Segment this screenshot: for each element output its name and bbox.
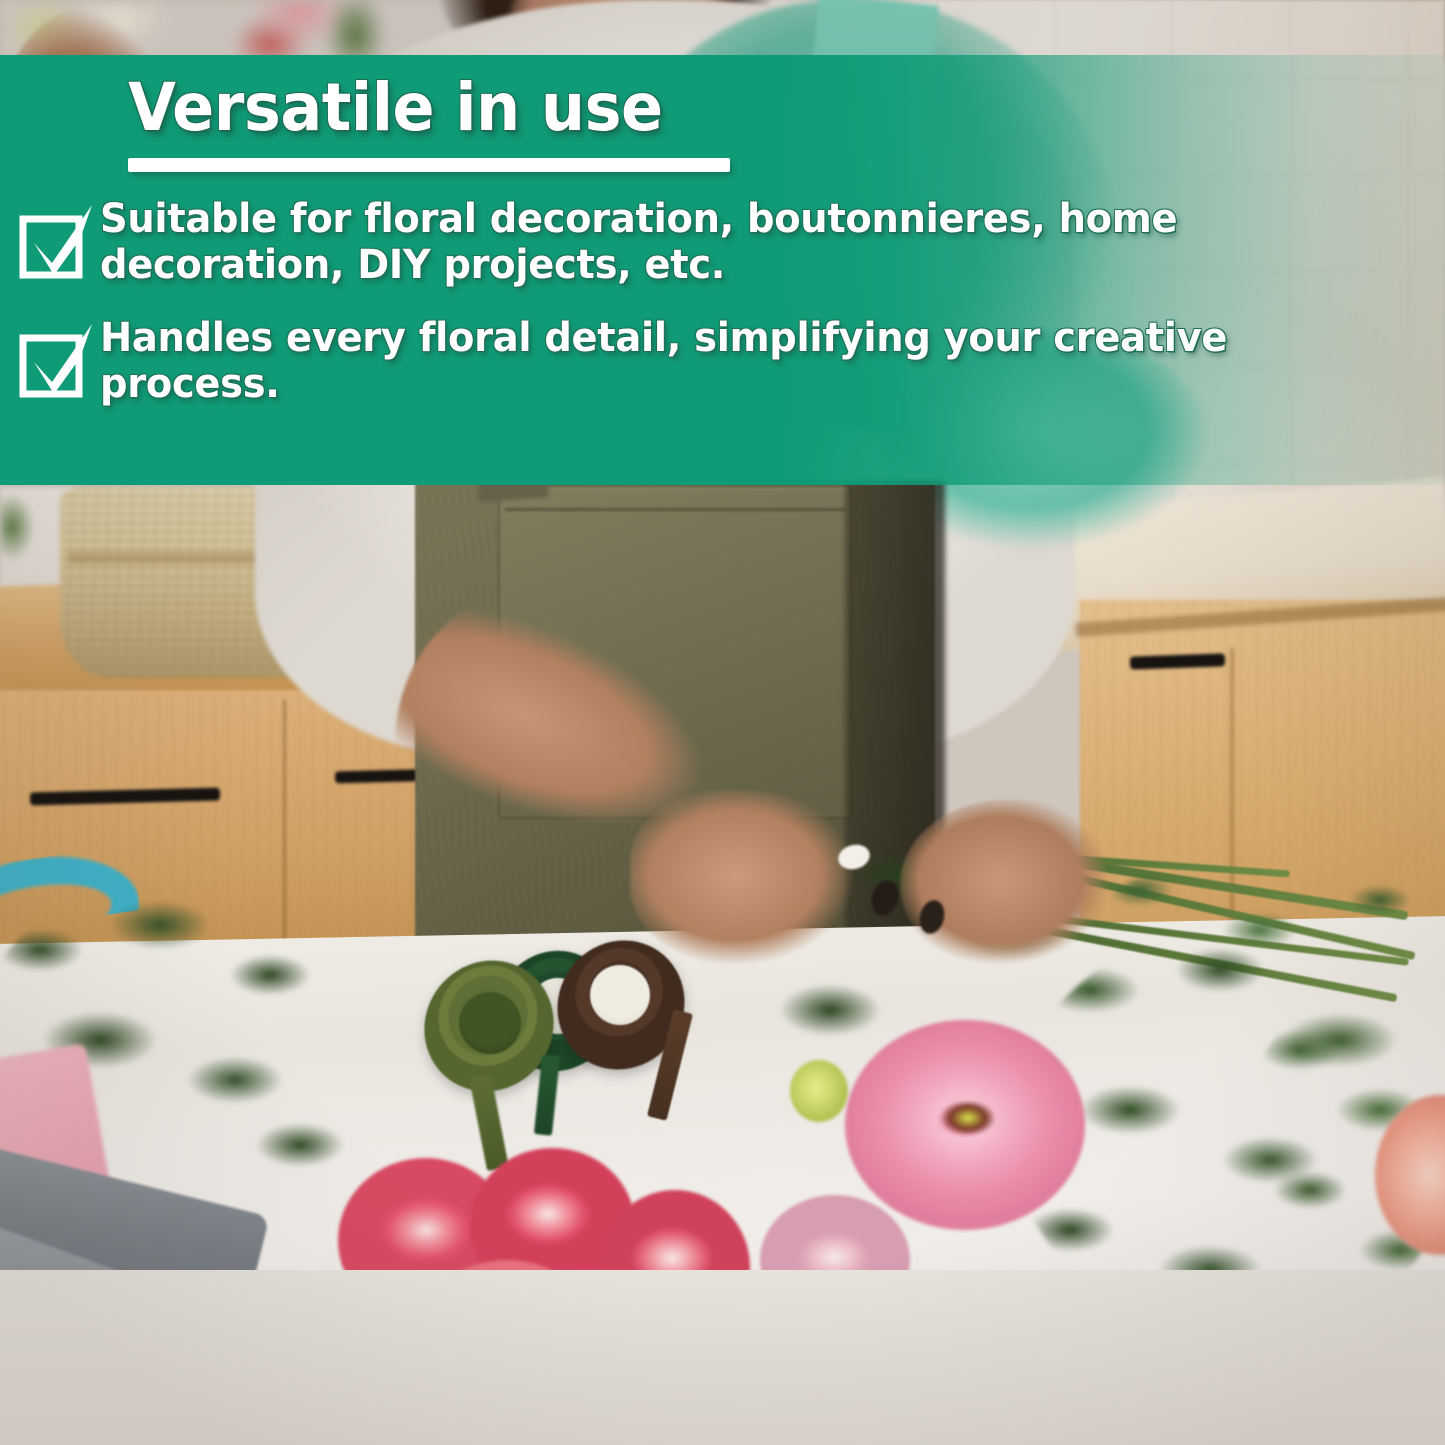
list-item-label: Suitable for floral decoration, boutonni… [100, 195, 1233, 288]
list-item: Handles every floral detail, simplifying… [0, 314, 1445, 407]
chartreuse-bud [790, 1060, 848, 1122]
tape-roll-core [590, 965, 650, 1025]
checkbox-checked-icon [0, 314, 100, 404]
title-underline [128, 158, 730, 172]
page-title: Versatile in use [128, 75, 663, 141]
countertop-front-edge [0, 1270, 1445, 1445]
apron-pocket-seam [505, 508, 845, 511]
list-item: Suitable for floral decoration, boutonni… [0, 195, 1445, 288]
peony-center [940, 1098, 998, 1138]
checkbox-checked-icon [0, 195, 100, 285]
list-item-label: Handles every floral detail, simplifying… [100, 314, 1233, 407]
banner-title-wrap: Versatile in use [128, 75, 697, 141]
person-right-hand [900, 800, 1110, 970]
person-left-hand [630, 790, 860, 965]
feature-list: Suitable for floral decoration, boutonni… [0, 195, 1445, 433]
feature-banner: Versatile in use Suitable for floral dec… [0, 55, 1445, 485]
greens-far-left [0, 487, 45, 572]
